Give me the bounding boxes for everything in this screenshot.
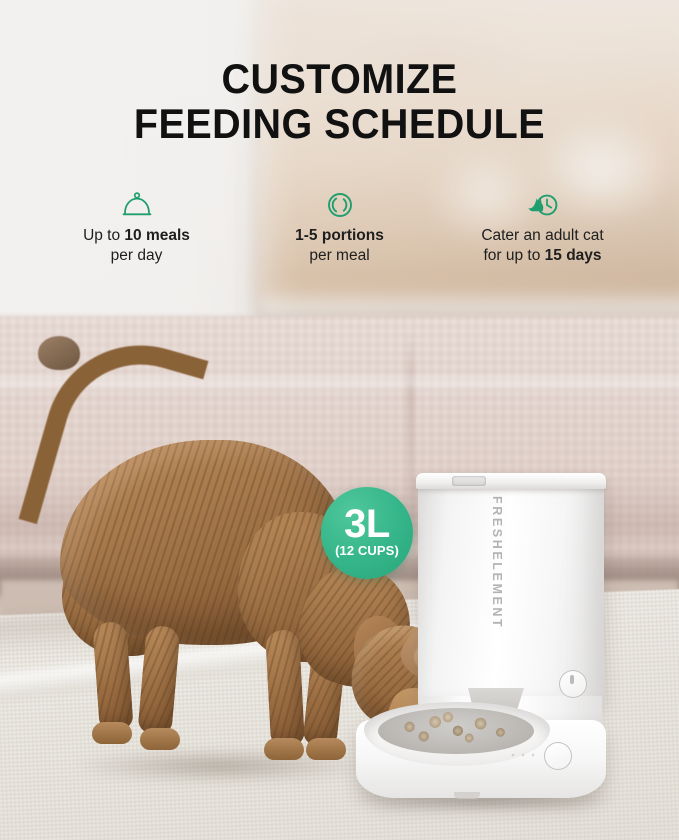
feature-line-1: Cater an adult cat bbox=[445, 226, 640, 246]
cat-leg bbox=[265, 629, 305, 747]
cat-tail-tip bbox=[38, 336, 80, 370]
feature-portions-per-meal: 1-5 portions per meal bbox=[238, 188, 441, 266]
cat-clock-icon bbox=[445, 188, 640, 222]
base-notch bbox=[454, 792, 480, 799]
kibble-food bbox=[384, 710, 526, 750]
power-button[interactable] bbox=[559, 670, 587, 698]
feature-text: 1-5 portions per meal bbox=[242, 226, 437, 266]
background-veil-left bbox=[0, 0, 300, 360]
feature-meals-per-day: Up to 10 meals per day bbox=[35, 188, 238, 266]
manual-feed-button[interactable] bbox=[544, 742, 572, 770]
status-led-indicators bbox=[510, 752, 536, 758]
capacity-cups: (12 CUPS) bbox=[335, 543, 399, 558]
feature-line-2: per meal bbox=[242, 246, 437, 266]
cat-paw bbox=[306, 738, 346, 760]
feature-text: Up to 10 meals per day bbox=[39, 226, 234, 266]
feature-line-2-bold: 15 days bbox=[545, 247, 602, 264]
feature-line-1: Up to 10 meals bbox=[39, 226, 234, 246]
feature-text: Cater an adult cat for up to 15 days bbox=[445, 226, 640, 266]
feature-line-2: for up to 15 days bbox=[445, 246, 640, 266]
feature-line-2-prefix: for up to bbox=[483, 247, 544, 264]
headline-line-2: FEEDING SCHEDULE bbox=[20, 101, 658, 146]
brand-plate bbox=[452, 476, 486, 486]
capacity-value: 3L bbox=[344, 506, 390, 543]
feeder-lid bbox=[416, 473, 606, 489]
cat-paw bbox=[264, 738, 304, 760]
feature-line-2: per day bbox=[39, 246, 234, 266]
feature-line-1: 1-5 portions bbox=[242, 226, 437, 246]
feature-line-1-bold: 10 meals bbox=[124, 227, 190, 244]
portion-dial-icon bbox=[242, 188, 437, 222]
feature-list: Up to 10 meals per day 1-5 portions per … bbox=[0, 188, 679, 266]
product-feature-banner: FRESHELEMENT CUSTOMIZE FEEDING SCHEDULE bbox=[0, 0, 679, 840]
capacity-badge: 3L (12 CUPS) bbox=[321, 487, 413, 579]
product-brand-label: FRESHELEMENT bbox=[490, 496, 504, 629]
cat-paw bbox=[92, 722, 132, 744]
automatic-pet-feeder: FRESHELEMENT bbox=[404, 470, 624, 800]
power-icon bbox=[570, 675, 574, 684]
feature-line-1-prefix: Up to bbox=[83, 227, 124, 244]
headline-line-1: CUSTOMIZE bbox=[221, 55, 457, 102]
feature-days-coverage: Cater an adult cat for up to 15 days bbox=[441, 188, 644, 266]
feature-line-1-bold: 1-5 portions bbox=[295, 227, 384, 244]
food-dome-icon bbox=[39, 188, 234, 222]
headline: CUSTOMIZE FEEDING SCHEDULE bbox=[20, 56, 658, 147]
cat-paw bbox=[140, 728, 180, 750]
